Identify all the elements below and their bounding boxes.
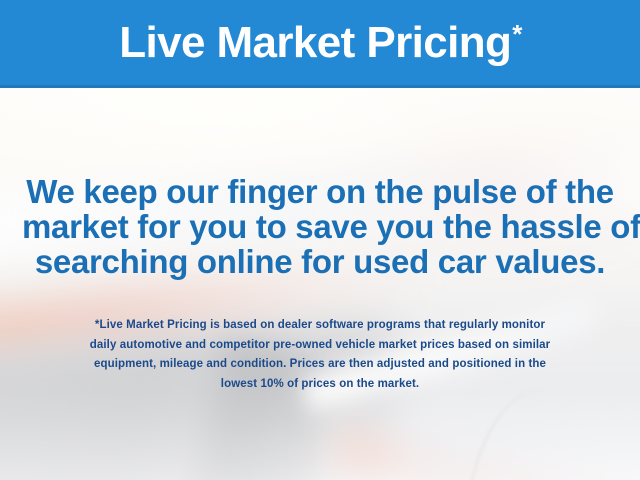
content-layer: We keep our finger on the pulse of the m… [0,88,640,480]
page-title: Live Market Pricing* [119,21,521,65]
disclaimer-line: daily automotive and competitor pre-owne… [26,336,614,356]
page-title-asterisk: * [512,19,522,49]
disclaimer-line: equipment, mileage and condition. Prices… [26,355,614,375]
page-title-text: Live Market Pricing [119,18,511,67]
live-market-pricing-card: Live Market Pricing* We keep our finger … [0,0,640,480]
headline: We keep our finger on the pulse of the m… [0,174,640,279]
headline-line: searching online for used car values. [22,244,618,279]
header-band: Live Market Pricing* [0,0,640,88]
headline-line: market for you to save you the hassle of [22,209,618,244]
disclaimer-text: *Live Market Pricing is based on dealer … [0,316,640,394]
disclaimer-line: lowest 10% of prices on the market. [26,375,614,395]
headline-line: We keep our finger on the pulse of the [22,174,618,209]
disclaimer-line: *Live Market Pricing is based on dealer … [26,316,614,336]
